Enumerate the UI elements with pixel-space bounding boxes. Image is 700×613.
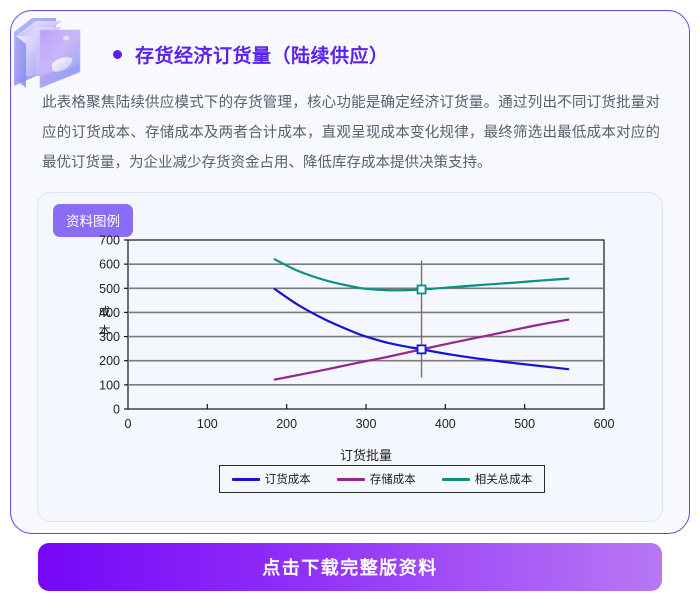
card-title-row: 存货经济订货量（陆续供应） [113,41,389,68]
download-button[interactable]: 点击下载完整版资料 [38,543,662,591]
svg-text:100: 100 [197,417,218,431]
screenshot-root: 存货经济订货量（陆续供应） 此表格聚焦陆续供应模式下的存货管理，核心功能是确定经… [0,0,700,613]
svg-text:订货批量: 订货批量 [340,448,392,463]
bullet-dot-icon [113,50,122,59]
svg-text:600: 600 [594,417,615,431]
legend-item: 存储成本 [337,471,416,487]
svg-text:600: 600 [99,258,120,272]
svg-text:0: 0 [113,403,120,417]
svg-text:100: 100 [99,378,120,392]
chart-panel: 资料图例 01002003004005006007000100200300400… [37,192,663,522]
folder-documents-icon [2,6,94,98]
svg-text:200: 200 [99,354,120,368]
card-description: 此表格聚焦陆续供应模式下的存货管理，核心功能是确定经济订货量。通过列出不同订货批… [42,88,660,178]
svg-text:成本: 成本 [97,305,111,343]
legend-item: 相关总成本 [442,471,533,487]
legend-swatch-holding-cost [337,478,365,481]
legend-swatch-ordering-cost [232,478,260,481]
legend-item: 订货成本 [232,471,311,487]
svg-text:400: 400 [435,417,456,431]
legend-label: 订货成本 [265,471,311,487]
svg-text:700: 700 [99,234,120,248]
legend-swatch-total-cost [442,478,470,481]
svg-text:300: 300 [356,417,377,431]
svg-text:500: 500 [514,417,535,431]
svg-text:0: 0 [125,417,132,431]
page-title: 存货经济订货量（陆续供应） [135,41,389,68]
svg-text:500: 500 [99,282,120,296]
chart-legend: 订货成本 存储成本 相关总成本 [219,465,545,493]
svg-text:200: 200 [276,417,297,431]
legend-label: 存储成本 [370,471,416,487]
legend-label: 相关总成本 [475,471,533,487]
